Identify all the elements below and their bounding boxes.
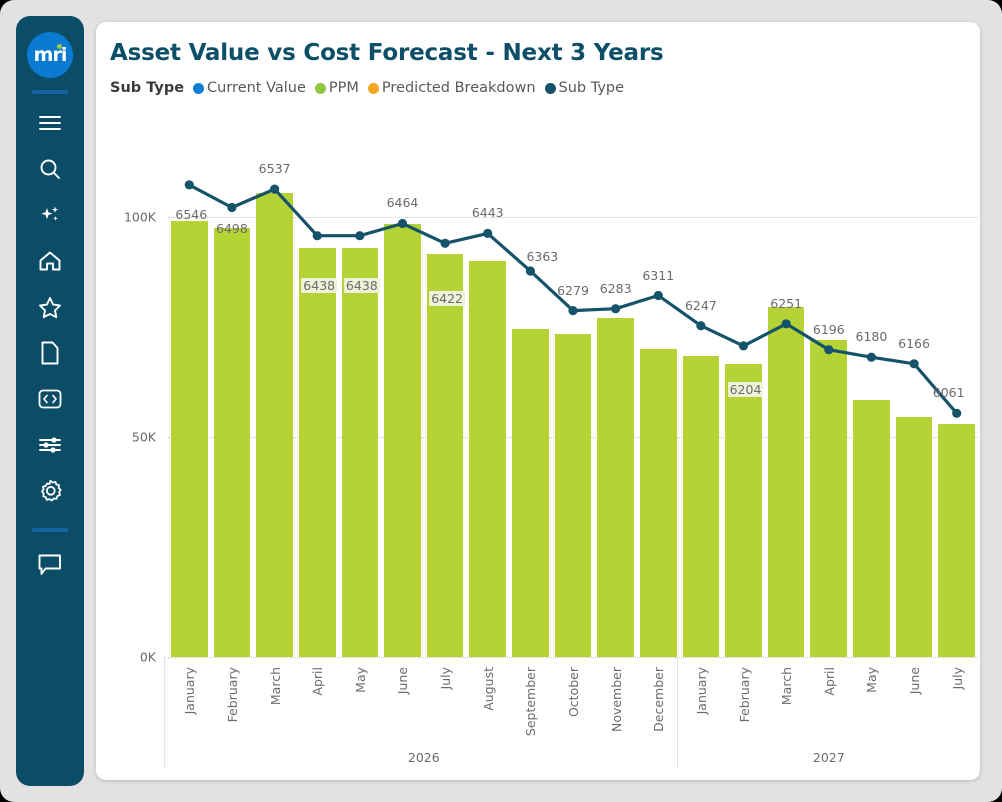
x-axis-tick-label: June xyxy=(907,667,922,694)
bar[interactable] xyxy=(555,334,592,657)
x-axis-tick-label: June xyxy=(395,667,410,694)
y-axis-tick-label: 100K xyxy=(96,210,156,225)
y-axis-tick-label: 0K xyxy=(96,650,156,665)
bar[interactable] xyxy=(683,356,720,657)
bar[interactable] xyxy=(725,364,762,657)
x-axis-tick-label: February xyxy=(737,667,752,722)
line-data-point[interactable] xyxy=(867,353,876,362)
x-axis-tick-label: November xyxy=(609,667,624,732)
line-data-point[interactable] xyxy=(654,291,663,300)
app-screen: mri xyxy=(0,0,1002,802)
gridline xyxy=(168,657,978,658)
x-axis-tick-label: February xyxy=(225,667,240,722)
code-icon xyxy=(38,389,62,409)
sidebar-item-favorites[interactable] xyxy=(25,284,75,330)
data-label: 6422 xyxy=(429,291,465,306)
bar[interactable] xyxy=(256,193,293,657)
x-axis-tick-label: July xyxy=(950,667,965,689)
bar[interactable] xyxy=(640,349,677,657)
sidebar-divider-top xyxy=(32,90,68,94)
sidebar-item-search[interactable] xyxy=(25,146,75,192)
bar[interactable] xyxy=(597,318,634,657)
data-label: 6443 xyxy=(470,205,506,220)
data-label: 6166 xyxy=(896,336,932,351)
data-label: 6196 xyxy=(811,322,847,337)
data-label: 6438 xyxy=(344,278,380,293)
x-axis-tick-label: August xyxy=(481,667,496,711)
sidebar: mri xyxy=(16,16,84,786)
bar[interactable] xyxy=(427,254,464,657)
sidebar-item-menu[interactable] xyxy=(25,100,75,146)
x-axis-tick-label: October xyxy=(566,667,581,717)
menu-icon xyxy=(39,115,61,131)
line-data-point[interactable] xyxy=(568,306,577,315)
x-axis-tick-label: March xyxy=(268,667,283,705)
data-label: 6180 xyxy=(854,329,890,344)
x-axis-group-label: 2027 xyxy=(813,750,845,765)
line-data-point[interactable] xyxy=(696,321,705,330)
x-axis-tick-label: July xyxy=(438,667,453,689)
plot-area: 0K50K100KJanuaryFebruaryMarchAprilMayJun… xyxy=(96,22,980,780)
data-label: 6498 xyxy=(214,221,250,236)
data-label: 6251 xyxy=(768,296,804,311)
mri-logo[interactable]: mri xyxy=(27,32,73,78)
axis-separator xyxy=(164,657,165,767)
data-label: 6311 xyxy=(640,268,676,283)
line-data-point[interactable] xyxy=(739,341,748,350)
x-axis-tick-label: April xyxy=(822,667,837,696)
chart-card: Asset Value vs Cost Forecast - Next 3 Ye… xyxy=(96,22,980,780)
data-label: 6464 xyxy=(385,195,421,210)
x-axis-tick-label: March xyxy=(779,667,794,705)
line-data-point[interactable] xyxy=(611,304,620,313)
data-label: 6546 xyxy=(173,207,209,222)
sidebar-item-chat[interactable] xyxy=(25,542,75,588)
sliders-icon xyxy=(38,435,62,455)
data-label: 6537 xyxy=(257,161,293,176)
sidebar-divider-bottom xyxy=(32,528,68,532)
x-axis-tick-label: January xyxy=(182,667,197,714)
bar[interactable] xyxy=(299,248,336,657)
sidebar-item-settings[interactable] xyxy=(25,468,75,514)
data-label: 6438 xyxy=(301,278,337,293)
bar[interactable] xyxy=(810,340,847,657)
star-icon xyxy=(38,296,62,319)
gear-icon xyxy=(38,479,63,504)
x-axis-tick-label: January xyxy=(694,667,709,714)
x-axis-group-label: 2026 xyxy=(408,750,440,765)
line-data-point[interactable] xyxy=(952,409,961,418)
bar[interactable] xyxy=(896,417,933,657)
search-icon xyxy=(39,158,61,180)
sidebar-item-developer[interactable] xyxy=(25,376,75,422)
x-axis-tick-label: May xyxy=(353,667,368,693)
chat-icon xyxy=(37,553,63,577)
data-label: 6204 xyxy=(728,382,764,397)
bar[interactable] xyxy=(768,307,805,657)
y-axis-tick-label: 50K xyxy=(96,430,156,445)
document-icon xyxy=(40,341,60,365)
x-axis-tick-label: December xyxy=(651,667,666,732)
data-label: 6279 xyxy=(555,283,591,298)
x-axis-tick-label: April xyxy=(310,667,325,696)
data-label: 6061 xyxy=(931,385,967,400)
bar[interactable] xyxy=(214,228,251,657)
line-data-point[interactable] xyxy=(355,231,364,240)
line-data-point[interactable] xyxy=(483,229,492,238)
sidebar-item-controls[interactable] xyxy=(25,422,75,468)
x-axis-tick-label: September xyxy=(523,667,538,736)
bar[interactable] xyxy=(853,400,890,657)
bar[interactable] xyxy=(342,248,379,657)
line-data-point[interactable] xyxy=(526,266,535,275)
bar[interactable] xyxy=(512,329,549,657)
line-data-point[interactable] xyxy=(441,239,450,248)
x-axis-tick-label: May xyxy=(864,667,879,693)
logo-accent-dot xyxy=(57,44,62,49)
line-data-point[interactable] xyxy=(910,359,919,368)
line-data-point[interactable] xyxy=(185,180,194,189)
sidebar-item-documents[interactable] xyxy=(25,330,75,376)
home-icon xyxy=(38,250,62,272)
data-label: 6363 xyxy=(524,249,560,264)
bar[interactable] xyxy=(171,221,208,657)
line-data-point[interactable] xyxy=(227,203,236,212)
axis-separator xyxy=(677,657,678,767)
sidebar-item-home[interactable] xyxy=(25,238,75,284)
sidebar-item-ai[interactable] xyxy=(25,192,75,238)
data-label: 6247 xyxy=(683,298,719,313)
bar[interactable] xyxy=(469,261,506,657)
bar[interactable] xyxy=(938,424,975,657)
line-data-point[interactable] xyxy=(313,231,322,240)
sparkles-ai-icon xyxy=(38,204,62,226)
data-label: 6283 xyxy=(598,281,634,296)
bar[interactable] xyxy=(384,224,421,657)
